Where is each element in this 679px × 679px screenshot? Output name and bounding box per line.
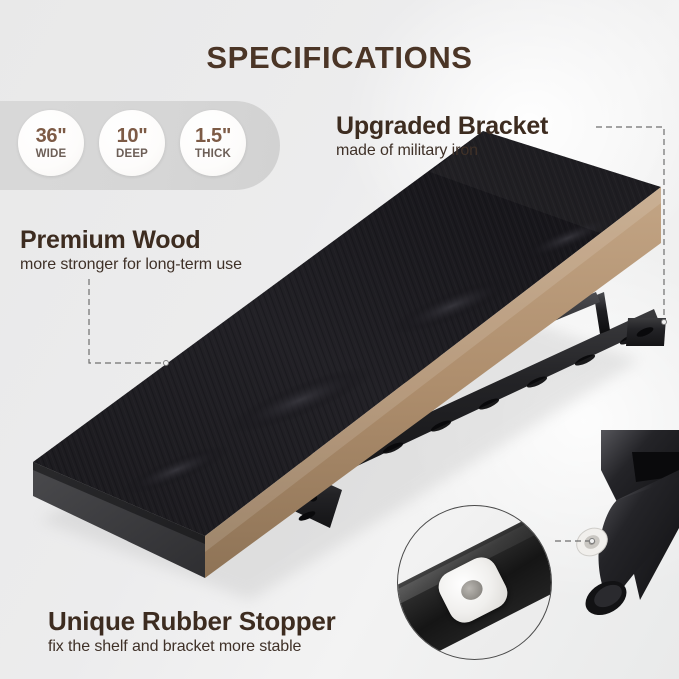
callout-upgraded-bracket: Upgraded Bracket made of military iron xyxy=(336,112,548,160)
badge-deep: 10" DEEP xyxy=(99,110,165,176)
specifications-infographic: SPECIFICATIONS xyxy=(0,0,679,679)
callout-premium-wood: Premium Wood more stronger for long-term… xyxy=(20,226,242,274)
badge-wide-label: WIDE xyxy=(36,149,67,161)
badge-wide: 36" WIDE xyxy=(18,110,84,176)
badge-thick-value: 1.5" xyxy=(195,126,231,146)
badge-wide-value: 36" xyxy=(36,126,67,146)
callout-rubber-stopper: Unique Rubber Stopper fix the shelf and … xyxy=(48,606,336,656)
callout-wood-heading: Premium Wood xyxy=(20,226,242,255)
callout-stopper-subtext: fix the shelf and bracket more stable xyxy=(48,638,336,656)
callout-bracket-heading: Upgraded Bracket xyxy=(336,112,548,141)
badge-deep-value: 10" xyxy=(117,126,148,146)
leader-dot-wood xyxy=(163,360,169,366)
badge-thick: 1.5" THICK xyxy=(180,110,246,176)
rubber-stopper-detail-inset xyxy=(397,505,552,660)
badge-thick-label: THICK xyxy=(195,149,231,161)
callout-stopper-heading: Unique Rubber Stopper xyxy=(48,606,336,637)
leader-dot-bracket xyxy=(661,319,667,325)
leader-dot-stopper xyxy=(589,538,595,544)
detached-bracket-arm xyxy=(572,430,679,622)
callout-wood-subtext: more stronger for long-term use xyxy=(20,256,242,274)
badge-deep-label: DEEP xyxy=(116,149,148,161)
dimension-badges: 36" WIDE 10" DEEP 1.5" THICK xyxy=(18,110,246,176)
callout-bracket-subtext: made of military iron xyxy=(336,142,548,160)
